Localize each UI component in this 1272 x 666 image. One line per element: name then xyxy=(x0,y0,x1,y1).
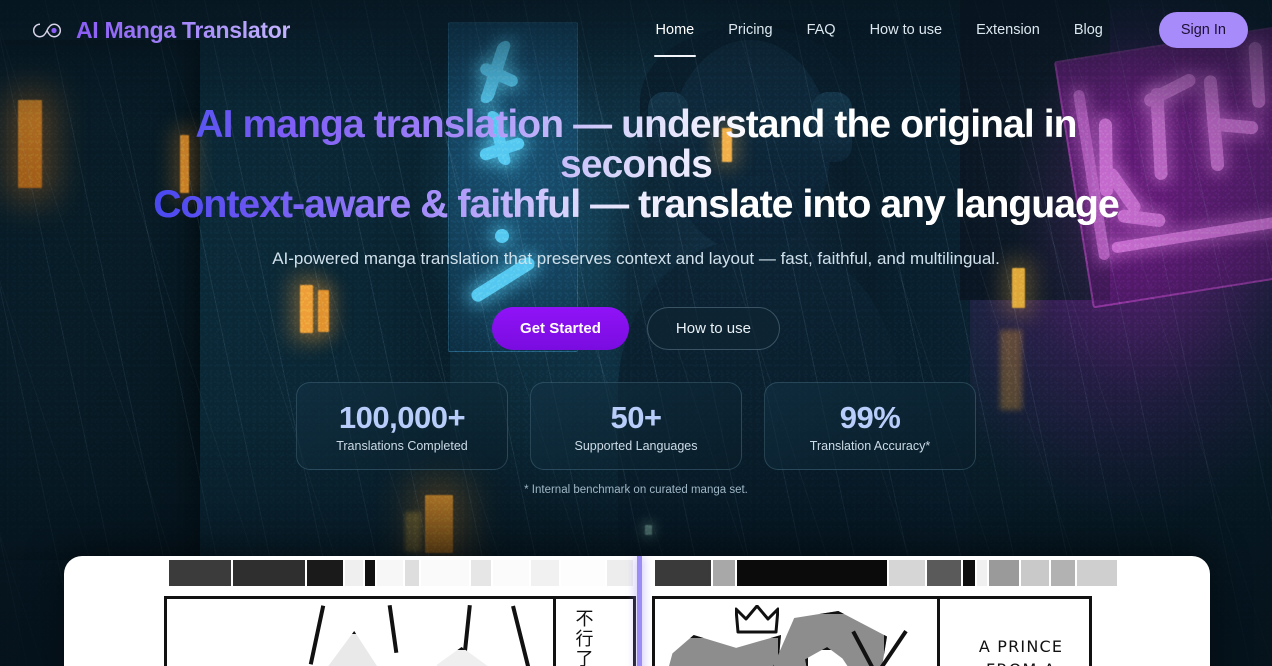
preview-translated-line-1: A PRINCE xyxy=(951,635,1091,658)
nav-item-blog[interactable]: Blog xyxy=(1074,4,1103,57)
stat-card-languages: 50+ Supported Languages xyxy=(530,382,742,470)
stat-value: 100,000+ xyxy=(339,400,465,436)
nav-item-pricing[interactable]: Pricing xyxy=(728,4,772,57)
main-navigation: Home Pricing FAQ How to use Extension Bl… xyxy=(656,4,1248,57)
stat-value: 99% xyxy=(840,400,901,436)
hero-subheadline: AI-powered manga translation that preser… xyxy=(271,245,1001,273)
get-started-button[interactable]: Get Started xyxy=(492,307,629,350)
headline-line-2: Context-aware & faithful — translate int… xyxy=(116,185,1156,225)
hero-section: AI manga translation — understand the or… xyxy=(0,0,1272,496)
page-title: AI manga translation — understand the or… xyxy=(116,105,1156,225)
stats-footnote: * Internal benchmark on curated manga se… xyxy=(524,484,748,496)
stat-value: 50+ xyxy=(610,400,661,436)
nav-item-home[interactable]: Home xyxy=(656,4,695,57)
sign-in-button[interactable]: Sign In xyxy=(1159,12,1248,48)
preview-strip-top xyxy=(169,560,637,586)
brand-logo[interactable]: AI Manga Translator xyxy=(30,17,290,44)
manga-comparison-preview[interactable]: 不行了，第 xyxy=(64,556,1210,666)
preview-panel-translated: A PRINCE FROM A xyxy=(652,596,1092,666)
nav-item-faq[interactable]: FAQ xyxy=(807,4,836,57)
hero-cta-group: Get Started How to use xyxy=(492,307,780,350)
brand-name: AI Manga Translator xyxy=(76,17,290,44)
site-header: AI Manga Translator Home Pricing FAQ How… xyxy=(0,0,1272,60)
stat-label: Supported Languages xyxy=(574,439,697,453)
nav-item-how-to-use[interactable]: How to use xyxy=(870,4,943,57)
before-after-slider-handle[interactable] xyxy=(637,556,642,666)
how-to-use-button[interactable]: How to use xyxy=(647,307,780,350)
preview-translated-line-2: FROM A xyxy=(951,658,1091,666)
stat-card-accuracy: 99% Translation Accuracy* xyxy=(764,382,976,470)
preview-strip-top xyxy=(655,560,1183,586)
infinity-icon xyxy=(30,19,64,41)
stat-label: Translation Accuracy* xyxy=(810,439,930,453)
nav-item-extension[interactable]: Extension xyxy=(976,4,1040,57)
stat-label: Translations Completed xyxy=(336,439,468,453)
preview-panel-original: 不行了，第 xyxy=(164,596,636,666)
stats-row: 100,000+ Translations Completed 50+ Supp… xyxy=(296,382,976,470)
stat-card-translations: 100,000+ Translations Completed xyxy=(296,382,508,470)
crown-icon xyxy=(735,605,779,635)
headline-line-1: AI manga translation — understand the or… xyxy=(195,103,1076,186)
preview-original-text: 不行了，第 xyxy=(571,609,594,666)
preview-original-side: 不行了，第 xyxy=(64,556,637,666)
preview-translated-side: A PRINCE FROM A xyxy=(637,556,1210,666)
